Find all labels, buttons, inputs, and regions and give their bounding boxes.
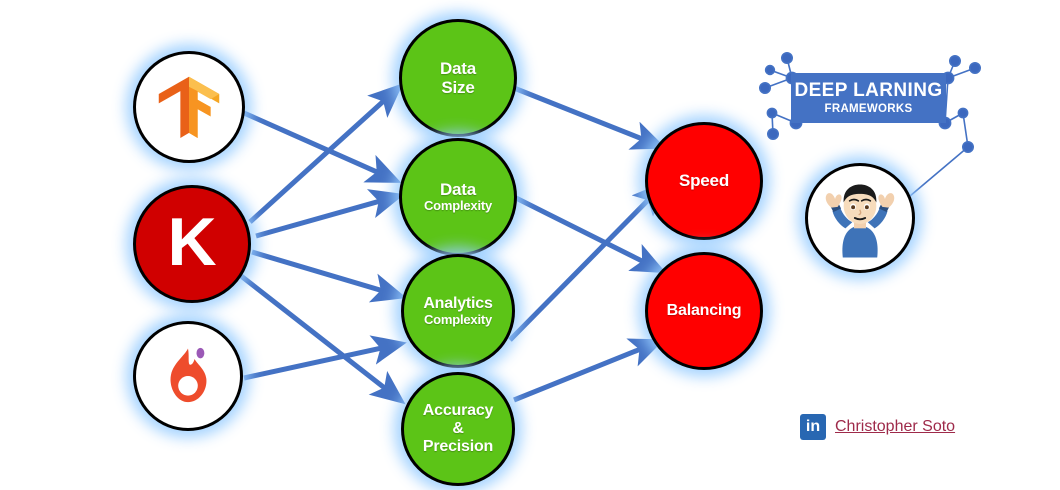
edge-pytorch-analytics-complexity [244, 344, 400, 378]
diagram-canvas: K Data Size Data Complexity Analytics Co… [0, 0, 1060, 490]
title-banner: DEEP LARNING FRAMEWORKS [791, 73, 946, 123]
tensorflow-logo-icon [153, 71, 225, 143]
edge-tensorflow-data-complexity [244, 113, 395, 180]
criteria-label-line2: Complexity [424, 199, 492, 214]
outcome-label: Speed [679, 171, 729, 190]
edge-keras-accuracy-precision [236, 272, 400, 400]
edge-data-size-speed [514, 88, 660, 146]
banner-title-line1: DEEP LARNING [794, 81, 942, 100]
edge-keras-analytics-complexity [252, 252, 400, 296]
criteria-label-line1: Accuracy [423, 402, 493, 420]
criteria-label-line1: Data [440, 59, 476, 78]
edge-accuracy-precision-balancing [514, 342, 658, 400]
edge-keras-data-size [250, 88, 398, 222]
edge-analytics-complexity-speed [510, 186, 662, 340]
shrugging-man-icon [817, 175, 903, 261]
framework-node-pytorch[interactable] [133, 321, 243, 431]
framework-node-keras[interactable]: K [133, 185, 251, 303]
edge-keras-data-complexity [256, 196, 398, 236]
criteria-label-line1: Analytics [423, 295, 492, 313]
shrugging-man-avatar [805, 163, 915, 273]
framework-node-tensorflow[interactable] [133, 51, 245, 163]
linkedin-icon[interactable]: in [800, 414, 826, 440]
criteria-label-line3: Precision [423, 438, 493, 456]
edge-data-complexity-balancing [516, 198, 660, 270]
pytorch-logo-icon [155, 342, 221, 410]
criteria-label-line2: Complexity [424, 313, 492, 328]
criteria-node-analytics-complexity[interactable]: Analytics Complexity [401, 254, 515, 368]
criteria-label-line2: Size [441, 78, 474, 97]
criteria-label-line2: & [452, 420, 463, 438]
outcome-node-speed[interactable]: Speed [645, 122, 763, 240]
author-credit[interactable]: in Christopher Soto [800, 414, 955, 440]
criteria-label-line1: Data [440, 180, 476, 199]
author-name-link[interactable]: Christopher Soto [835, 418, 955, 436]
banner-title-line2: FRAMEWORKS [825, 104, 913, 116]
keras-letter: K [167, 208, 216, 276]
outcome-node-balancing[interactable]: Balancing [645, 252, 763, 370]
criteria-node-accuracy-precision[interactable]: Accuracy & Precision [401, 372, 515, 486]
criteria-node-data-complexity[interactable]: Data Complexity [399, 138, 517, 256]
outcome-label: Balancing [667, 302, 742, 320]
criteria-node-data-size[interactable]: Data Size [399, 19, 517, 137]
